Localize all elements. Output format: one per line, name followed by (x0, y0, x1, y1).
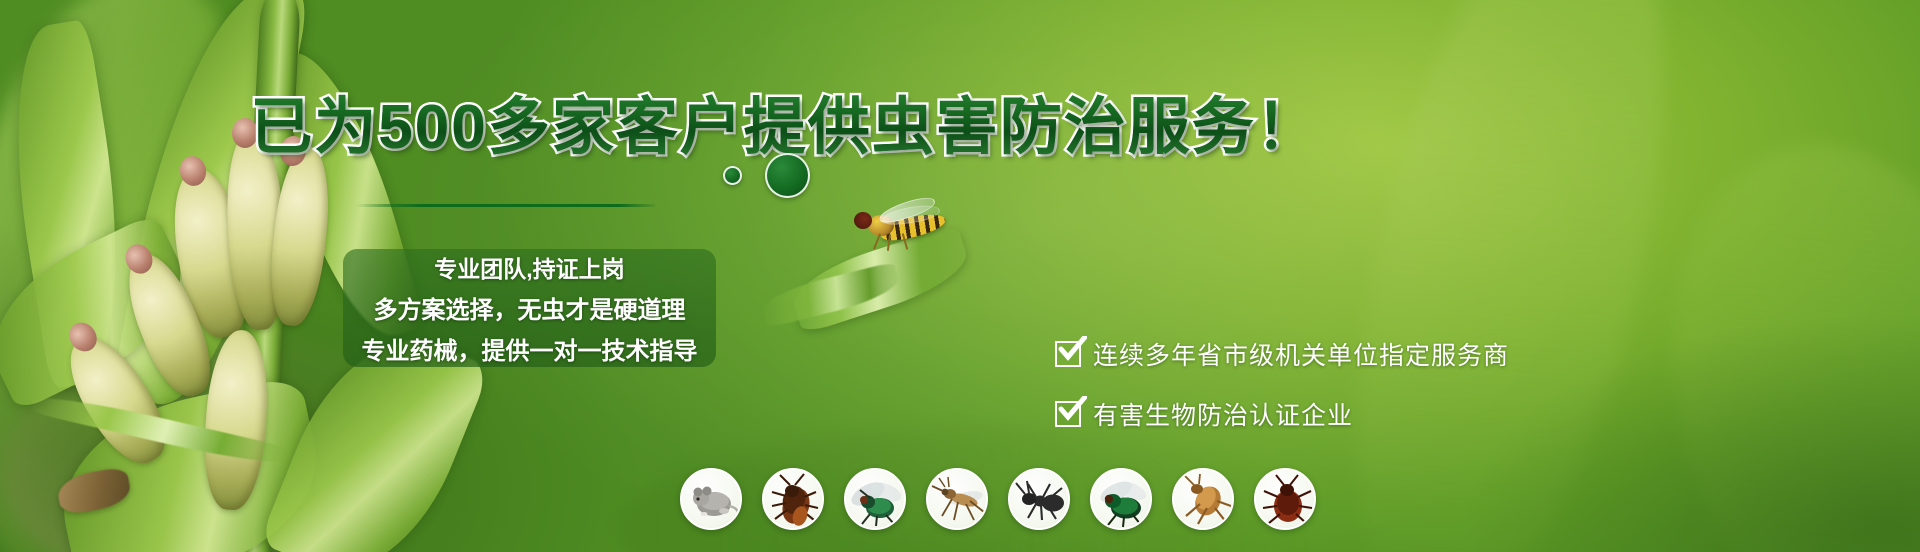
cockroach-icon[interactable] (762, 468, 824, 530)
checklist-item-2: 有害生物防治认证企业 (1055, 390, 1509, 438)
checkbox-checked-icon (1055, 341, 1081, 367)
hoverfly-head (854, 212, 872, 229)
checklist: 连续多年省市级机关单位指定服务商 有害生物防治认证企业 (1055, 330, 1509, 438)
checklist-label-1: 连续多年省市级机关单位指定服务商 (1093, 336, 1509, 372)
feature-line-1: 专业团队,持证上岗 (434, 250, 624, 284)
feature-text-group: 专业团队,持证上岗 多方案选择，无虫才是硬道理 专业药械，提供一对一技术指导 (343, 249, 716, 367)
flea-icon[interactable] (1172, 468, 1234, 530)
checkbox-checked-icon (1055, 401, 1081, 427)
bedbug-icon[interactable] (1254, 468, 1316, 530)
greenbottle-fly-icon[interactable] (1090, 468, 1152, 530)
pest-icon-row (680, 468, 1316, 530)
decorative-divider (355, 204, 655, 207)
large-dot (765, 153, 810, 198)
hoverfly-icon (852, 203, 957, 255)
feature-line-3: 专业药械，提供一对一技术指导 (362, 331, 698, 366)
rodent-icon[interactable] (680, 468, 742, 530)
feature-line-2: 多方案选择，无虫才是硬道理 (374, 290, 686, 325)
checklist-item-1: 连续多年省市级机关单位指定服务商 (1055, 330, 1509, 378)
checklist-label-2: 有害生物防治认证企业 (1093, 396, 1353, 432)
housefly-icon[interactable] (844, 468, 906, 530)
small-dot (723, 166, 742, 185)
ant-icon[interactable] (1008, 468, 1070, 530)
mosquito-icon[interactable] (926, 468, 988, 530)
promotional-banner: 已为500多家客户提供虫害防治服务！ 已为500多家客户提供虫害防治服务！ 专业… (0, 0, 1920, 552)
hoverfly-leg (873, 233, 881, 250)
